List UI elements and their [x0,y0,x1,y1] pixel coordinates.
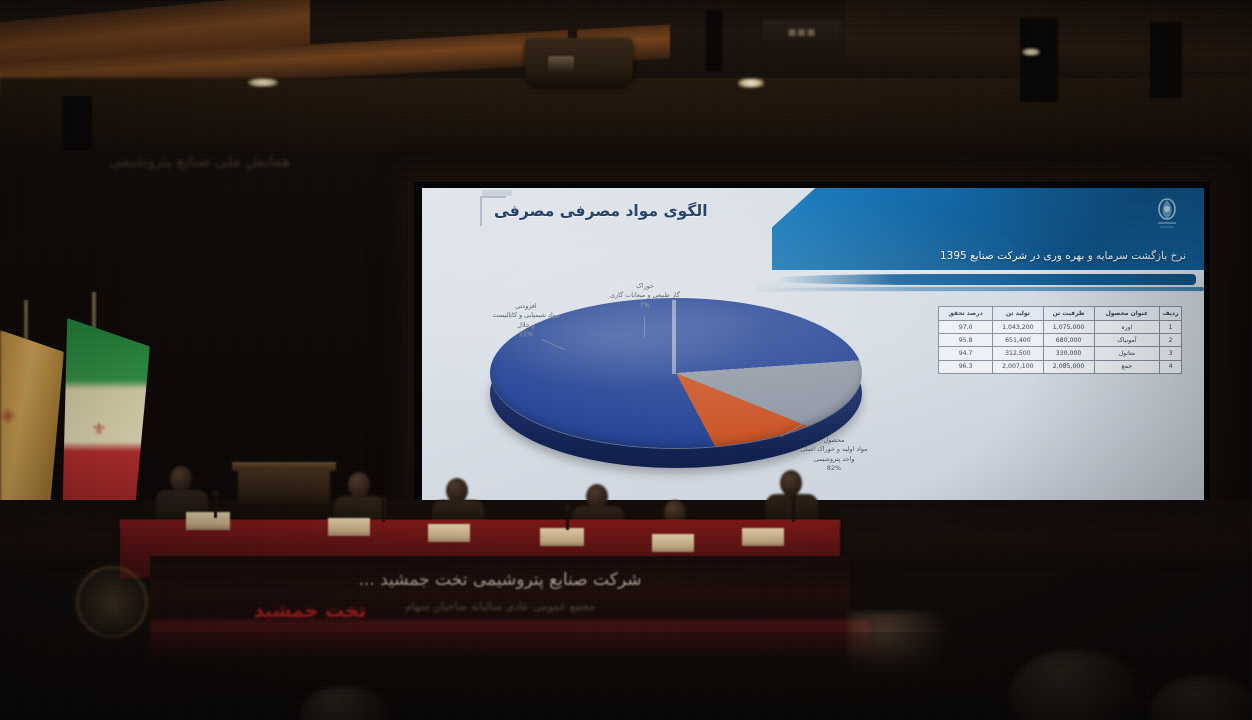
company-flag-emblem-icon: ◈ [0,400,53,461]
table-cell: 2,007,100 [993,360,1043,373]
table-cell: 96.3 [939,360,993,373]
name-placard [328,518,370,536]
ceiling: ■■■ [0,0,1252,175]
audience-head [300,686,390,720]
pie-label-blue-line3: واحد پتروشیمی [774,455,894,464]
ceiling-projector [525,38,633,86]
audience-head [1150,676,1252,720]
hall-wall-sign: ■■■ [763,20,841,46]
pie-label-orange: افزودنی مواد شیمیایی و کاتالیست و حلال 1… [470,302,582,339]
microphone-head-icon [212,490,219,497]
ceiling-truss-center [706,10,722,72]
stage-side-lamp-ring [76,566,148,638]
ceiling-truss-right-a [1020,18,1058,102]
slide-data-table-wrap: ردیف عنوان محصول ظرفیت تن تولید تن درصد … [938,306,1182,374]
table-cell: 680,000 [1043,334,1094,347]
table-header-row: ردیف عنوان محصول ظرفیت تن تولید تن درصد … [939,307,1182,321]
table-cell: 651,400 [993,334,1043,347]
pie-slice-gap [672,300,676,374]
table-row: 3 متانول 330,000 312,500 94.7 [939,347,1182,360]
name-placard [428,524,470,542]
table-cell: 94.7 [939,347,993,360]
microphone-head-icon [790,494,797,501]
projector-stem [568,0,577,42]
pie-label-orange-line1: افزودنی [470,302,582,311]
table-cell: 1,075,000 [1043,320,1094,333]
microphone-stand [792,500,795,522]
conference-hall-photo: ■■■ همایش ملی صنایع پتروشیمی نرخ بازگشت … [0,0,1252,720]
presentation-slide: نرخ بازگشت سرمایه و بهره وری در شرکت صنا… [422,188,1204,504]
table-row: 4 جمع 2,085,000 2,007,100 96.3 [939,360,1182,373]
table-header-cell: ردیف [1160,307,1182,321]
microphone-stand [214,496,217,518]
name-placard [652,534,694,552]
lectern [238,468,330,506]
iran-flag-emblem-icon: ⚜ [88,418,110,442]
slide-banner-title: نرخ بازگشت سرمایه و بهره وری در شرکت صنا… [940,250,1186,262]
stage-light-1 [248,78,278,87]
table-cell: 3 [1160,347,1182,360]
stage-light-3 [1022,48,1040,56]
pie-label-gray-line1: خوراک [590,282,700,291]
table-cell: 1 [1160,320,1182,333]
name-placard [540,528,584,546]
ceiling-truss-right-b [1150,22,1182,98]
projection-screen-frame: نرخ بازگشت سرمایه و بهره وری در شرکت صنا… [414,182,1210,510]
table-cell: اوره [1094,320,1160,333]
table-cell: 2 [1160,334,1182,347]
stage-light-2 [738,78,764,88]
table-row: 1 اوره 1,075,000 1,043,200 97.0 [939,320,1182,333]
company-logo-icon [1152,198,1182,232]
pie-label-gray-line2: گاز طبیعی و میعانات گازی [590,291,700,300]
pie-label-orange-line2: مواد شیمیایی و کاتالیست [470,311,582,320]
pie-label-gray-value: 7% [590,301,700,310]
table-cell: 97.0 [939,320,993,333]
pie-label-blue: محصول مواد اولیه و خوراک اصلی واحد پتروش… [774,436,894,473]
pie-label-orange-line3: و حلال [470,321,582,330]
microphone-head-icon [380,496,387,503]
name-placard [742,528,784,546]
table-cell: 4 [1160,360,1182,373]
pie-leader-gray [644,316,645,338]
table-cell: متانول [1094,347,1160,360]
table-header-cell: ظرفیت تن [1043,307,1094,321]
slide-title-box: الگوی مواد مصرفی مصرفی [494,202,708,220]
table-header-cell: تولید تن [993,307,1043,321]
audience-head [1010,650,1140,720]
slide-title: الگوی مواد مصرفی مصرفی [494,202,708,220]
table-cell: 95.8 [939,334,993,347]
table-cell: 2,085,000 [1043,360,1094,373]
hall-banner-red-text: تخت جمشید [200,600,420,622]
pie-label-blue-line1: محصول [774,436,894,445]
table-cell: آمونیاک [1094,334,1160,347]
wall-text-left: همایش ملی صنایع پتروشیمی [40,152,290,176]
table-header-cell: عنوان محصول [1094,307,1160,321]
table-cell: 312,500 [993,347,1043,360]
table-cell: 330,000 [1043,347,1094,360]
table-row: 2 آمونیاک 680,000 651,400 95.8 [939,334,1182,347]
microphone-head-icon [564,504,571,511]
projector-lens-icon [548,56,574,72]
pie-label-blue-line2: مواد اولیه و خوراک اصلی [774,445,894,454]
microphone-stand [382,502,385,522]
hall-banner-company: شرکت صنایع پتروشیمی تخت جمشید ... [150,570,850,590]
microphone-stand [566,510,569,530]
pie-label-gray: خوراک گاز طبیعی و میعانات گازی 7% [590,282,700,310]
audience-foreground [0,632,1252,720]
name-placard [186,512,230,530]
table-cell: جمع [1094,360,1160,373]
slide-data-table: ردیف عنوان محصول ظرفیت تن تولید تن درصد … [938,306,1182,374]
table-header-cell: درصد تحقق [939,307,993,321]
slide-banner: نرخ بازگشت سرمایه و بهره وری در شرکت صنا… [772,188,1204,270]
pie-label-orange-value: 11% [470,330,582,339]
table-cell: 1,043,200 [993,320,1043,333]
